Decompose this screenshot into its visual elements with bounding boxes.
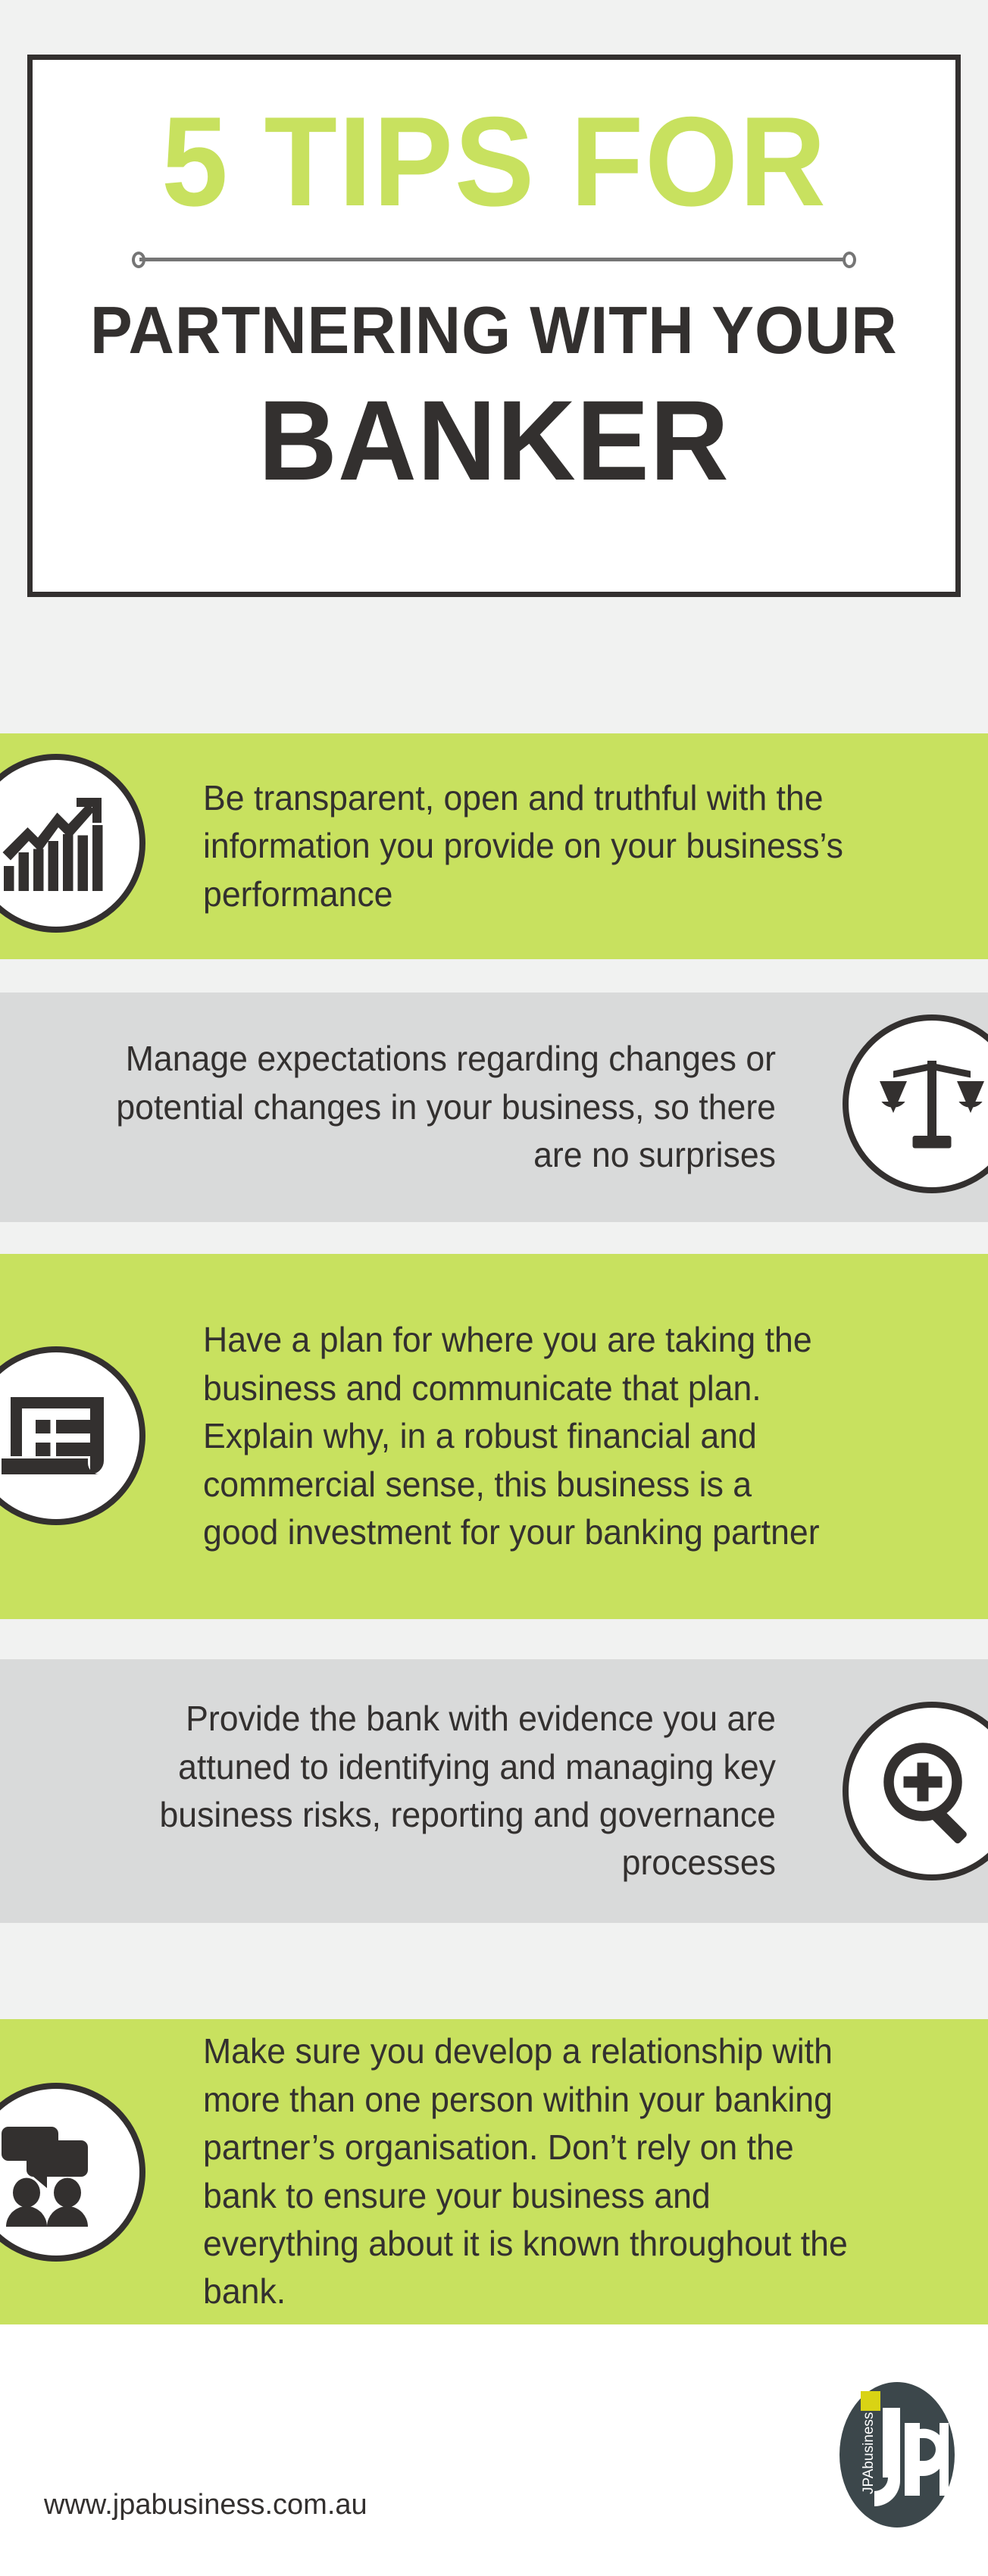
page-title-subtitle: PARTNERING WITH YOUR: [90, 297, 898, 364]
divider-line: [139, 258, 849, 261]
divider-right-dot-icon: [843, 252, 856, 268]
jpa-business-logo[interactable]: JPAbusiness: [839, 2381, 955, 2529]
title-divider: [132, 250, 856, 270]
page-title-emphasis: BANKER: [258, 383, 730, 497]
people-conversation-icon: [0, 2083, 145, 2262]
tip-text-5: Make sure you develop a relationship wit…: [203, 2027, 857, 2316]
page-title-main: 5 TIPS FOR: [161, 99, 827, 224]
tip-band-1: Be transparent, open and truthful with t…: [0, 733, 988, 959]
tip-band-3: Have a plan for where you are taking the…: [0, 1254, 988, 1619]
tip-band-5: Make sure you develop a relationship wit…: [0, 2019, 988, 2324]
tip-band-2: Manage expectations regarding changes or…: [0, 993, 988, 1222]
bar-chart-growth-icon: [0, 754, 145, 933]
footer-website-url[interactable]: www.jpabusiness.com.au: [44, 2489, 367, 2521]
magnifier-plus-icon: [843, 1702, 988, 1880]
svg-text:JPAbusiness: JPAbusiness: [861, 2412, 877, 2494]
infographic-page: 5 TIPS FOR PARTNERING WITH YOUR BANKER: [0, 0, 988, 2576]
tip-band-4: Provide the bank with evidence you are a…: [0, 1659, 988, 1923]
tip-text-2: Manage expectations regarding changes or…: [114, 1035, 776, 1179]
tip-text-1: Be transparent, open and truthful with t…: [203, 774, 894, 918]
tip-text-4: Provide the bank with evidence you are a…: [70, 1695, 776, 1887]
document-plan-icon: [0, 1346, 145, 1525]
title-card: 5 TIPS FOR PARTNERING WITH YOUR BANKER: [27, 55, 961, 597]
balance-scales-icon: [843, 1014, 988, 1193]
tip-text-3: Have a plan for where you are taking the…: [203, 1316, 835, 1556]
